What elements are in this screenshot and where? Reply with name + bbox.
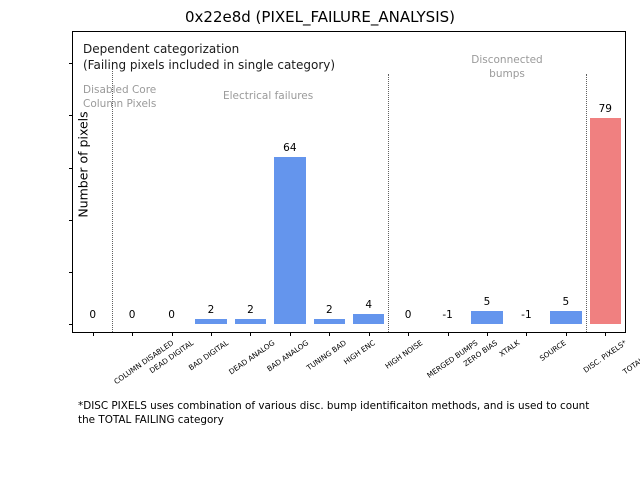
x-axis-tick-mark (408, 332, 409, 336)
y-axis-tick-mark (69, 220, 73, 221)
annotation-disabled-core-column-pixels: Disabled Core Column Pixels (83, 84, 156, 112)
y-axis-tick-mark (69, 324, 73, 325)
x-axis-tick-mark (93, 332, 94, 336)
bar[interactable] (353, 314, 385, 324)
figure-canvas: 0x22e8d (PIXEL_FAILURE_ANALYSIS) Number … (0, 0, 640, 480)
page-title: 0x22e8d (PIXEL_FAILURE_ANALYSIS) (0, 8, 640, 26)
x-axis-tick-label: SOURCE (539, 339, 569, 364)
x-axis-tick-label: XTALK (498, 339, 522, 359)
bar-value-label: 0 (168, 309, 175, 321)
bar-value-label: 79 (599, 103, 612, 115)
annotation-dependent-categorization: Dependent categorization (Failing pixels… (83, 42, 335, 74)
bar-value-label: -1 (442, 309, 452, 321)
x-axis-tick-mark (250, 332, 251, 336)
bar[interactable] (590, 118, 622, 324)
x-axis-tick-label: HIGH NOISE (384, 339, 425, 371)
y-axis-tick-mark (69, 168, 73, 169)
bar-value-label: 5 (563, 296, 570, 308)
x-axis-tick-mark (172, 332, 173, 336)
y-axis-tick-mark (69, 272, 73, 273)
bar-value-label: 0 (89, 309, 96, 321)
plot-inner-clip: 0002264240-15-1579Dependent categorizati… (73, 32, 625, 332)
bar[interactable] (314, 319, 346, 324)
bar-value-label: 64 (283, 142, 296, 154)
x-axis-tick-label: HIGH ENC (343, 339, 378, 367)
group-divider-line (586, 74, 587, 332)
bar-value-label: 2 (247, 304, 254, 316)
x-axis-tick-mark (290, 332, 291, 336)
plot-area: Number of pixels 0002264240-15-1579Depen… (72, 31, 626, 333)
footnote: *DISC PIXELS uses combination of various… (78, 400, 598, 427)
x-axis-tick-mark (487, 332, 488, 336)
x-axis-tick-mark (605, 332, 606, 336)
x-axis-tick-label: TUNING BAD (305, 339, 348, 373)
bar-value-label: 0 (129, 309, 136, 321)
x-axis-tick-mark (132, 332, 133, 336)
group-divider-line (388, 74, 389, 332)
x-axis-tick-mark (566, 332, 567, 336)
y-axis-tick-mark (69, 63, 73, 64)
x-axis-tick-mark (526, 332, 527, 336)
bar[interactable] (235, 319, 267, 324)
bar[interactable] (274, 157, 306, 324)
x-axis-tick-mark (211, 332, 212, 336)
bar[interactable] (550, 311, 582, 324)
bar[interactable] (195, 319, 227, 324)
bar[interactable] (471, 311, 503, 324)
bar-value-label: 4 (365, 299, 372, 311)
bar-value-label: 0 (405, 309, 412, 321)
y-axis-tick-mark (69, 115, 73, 116)
bar-value-label: 2 (326, 304, 333, 316)
x-axis-tick-mark (369, 332, 370, 336)
x-axis-tick-mark (329, 332, 330, 336)
bar-value-label: 2 (208, 304, 215, 316)
annotation-disconnected-bumps: Disconnected bumps (447, 54, 567, 82)
bar-value-label: 5 (484, 296, 491, 308)
x-axis-tick-mark (448, 332, 449, 336)
bar-value-label: -1 (521, 309, 531, 321)
annotation-electrical-failures: Electrical failures (223, 90, 313, 104)
